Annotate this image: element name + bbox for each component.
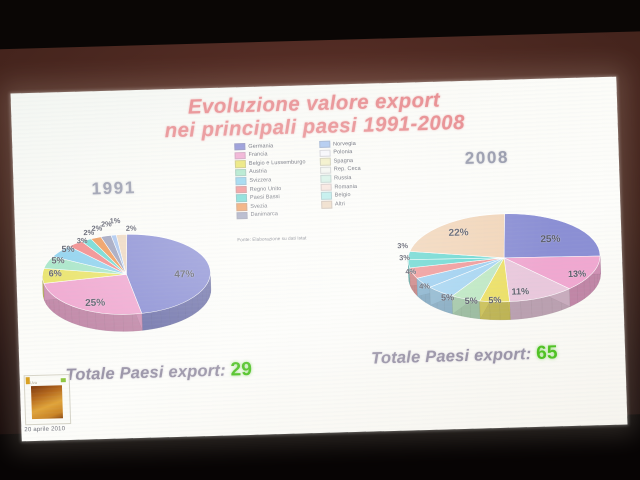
pie-slice-label: 3% bbox=[397, 241, 408, 250]
legend-swatch-icon bbox=[235, 177, 246, 185]
thumbnail-caption: Uva bbox=[30, 380, 37, 385]
slide-thumbnail-image: Uva bbox=[24, 374, 72, 425]
legend-item-label: Romania bbox=[334, 183, 357, 190]
legend-item: Romania bbox=[320, 183, 361, 192]
pie-chart-2008: 25%13%11%5%5%5%4%4%3%3%22% bbox=[386, 185, 627, 338]
legend-swatch-icon bbox=[234, 143, 245, 151]
legend-swatch-icon bbox=[236, 212, 247, 220]
pie-slice-side bbox=[510, 301, 522, 320]
pie-slice-side bbox=[531, 298, 542, 318]
legend-column-right: NorvegiaPoloniaSpagnaRep. CecaRussiaRoma… bbox=[319, 140, 362, 217]
pie-chart-1991: 47%25%6%5%5%3%2%2%2%1%2% bbox=[16, 205, 236, 341]
legend-item-label: Danimarca bbox=[250, 211, 278, 218]
legend-item-label: Altri bbox=[335, 201, 345, 207]
legend-swatch-icon bbox=[321, 201, 332, 209]
presentation-slide: Evoluzione valore export nei principali … bbox=[10, 77, 627, 442]
legend-swatch-icon bbox=[319, 149, 330, 157]
pie-slice-label: 5% bbox=[488, 295, 501, 305]
legend-item-label: Polonia bbox=[333, 149, 352, 156]
legend-item-label: Belgio bbox=[335, 192, 351, 198]
legend-swatch-icon bbox=[236, 194, 247, 202]
legend-swatch-icon bbox=[320, 183, 331, 191]
legend-swatch-icon bbox=[319, 158, 330, 166]
legend-item: Rep. Ceca bbox=[320, 166, 361, 175]
legend-item-label: Svezia bbox=[250, 203, 267, 209]
pie-slice-label: 22% bbox=[448, 227, 468, 239]
pie-slice-label: 11% bbox=[511, 286, 529, 296]
legend-swatch-icon bbox=[321, 192, 332, 200]
legend-item-label: Paesi Bassi bbox=[250, 194, 280, 201]
legend-swatch-icon bbox=[235, 160, 246, 168]
legend-item: Belgio bbox=[321, 191, 362, 200]
pie-slice-label: 25% bbox=[85, 298, 105, 310]
pie-slice-side bbox=[542, 295, 553, 315]
pie-slice-label: 25% bbox=[540, 234, 560, 246]
pie-slice-label: 3% bbox=[77, 236, 88, 245]
pie-slice-label: 4% bbox=[419, 282, 430, 291]
total-countries-2008: Totale Paesi export: 65 bbox=[371, 342, 558, 369]
legend-item: Altri bbox=[321, 200, 362, 209]
legend-item: Polonia bbox=[319, 148, 360, 157]
pie-slice-side bbox=[87, 310, 96, 329]
legend-item-label: Rep. Ceca bbox=[334, 166, 361, 173]
pie-slice-label: 1% bbox=[110, 216, 121, 225]
legend-swatch-icon bbox=[235, 169, 246, 177]
pie-slice-label: 5% bbox=[61, 244, 74, 254]
pie-slice-label: 13% bbox=[568, 268, 586, 278]
pie-slice-side bbox=[142, 312, 152, 330]
total-value-2008: 65 bbox=[536, 342, 558, 364]
legend-swatch-icon bbox=[320, 175, 331, 183]
pie-svg bbox=[386, 185, 627, 338]
source-note: Fonte: Elaborazione su dati Istat bbox=[237, 235, 306, 242]
pie-slice-side bbox=[79, 308, 88, 328]
legend-item-label: Belgio e Lussemburgo bbox=[249, 159, 306, 167]
pie-slice-side bbox=[161, 308, 170, 327]
thumbnail-green-mark bbox=[61, 378, 66, 382]
legend-swatch-icon bbox=[234, 152, 245, 160]
legend-item-label: Regno Unito bbox=[250, 186, 282, 193]
legend-item-label: Russia bbox=[334, 175, 352, 181]
legend-item-label: Norvegia bbox=[333, 141, 356, 148]
year-label-2008: 2008 bbox=[465, 148, 510, 169]
legend-swatch-icon bbox=[320, 166, 331, 174]
room-ceiling bbox=[0, 0, 640, 50]
pie-slice-side bbox=[123, 314, 133, 331]
total-countries-1991: Totale Paesi export: 29 bbox=[65, 359, 252, 386]
legend-swatch-icon bbox=[236, 203, 247, 211]
slide-date: 20 aprile 2010 bbox=[24, 426, 65, 433]
pie-slice-label: 5% bbox=[464, 296, 477, 306]
projected-slide-photo: Evoluzione valore export nei principali … bbox=[0, 0, 640, 480]
total-value-1991: 29 bbox=[230, 359, 252, 381]
pie-slice-label: 47% bbox=[174, 269, 194, 281]
year-label-1991: 1991 bbox=[91, 178, 136, 199]
legend-swatch-icon bbox=[319, 141, 330, 149]
pie-slice-side bbox=[151, 310, 161, 329]
pie-slice-side bbox=[104, 313, 114, 331]
total-label-1991: Totale Paesi export: bbox=[65, 362, 226, 384]
legend-item: Danimarca bbox=[236, 210, 307, 219]
pie-slice-label: 2% bbox=[126, 224, 137, 233]
pie-slice-label: 5% bbox=[51, 255, 64, 265]
legend-item-label: Svizzera bbox=[249, 177, 271, 184]
pie-slice-label: 3% bbox=[399, 253, 410, 262]
slide-title: Evoluzione valore export nei principali … bbox=[11, 85, 618, 148]
legend-column-left: GermaniaFranciaBelgio e LussemburgoAustr… bbox=[234, 141, 307, 219]
pie-slice-side bbox=[169, 305, 178, 325]
legend-item-label: Austria bbox=[249, 169, 267, 175]
pie-slice-label: 4% bbox=[405, 267, 416, 276]
pie-slice-side bbox=[71, 306, 79, 326]
pie-slice-side bbox=[95, 312, 104, 331]
pie-slice-side bbox=[114, 314, 124, 332]
legend-item: Russia bbox=[320, 174, 361, 183]
legend-item-label: Francia bbox=[249, 152, 268, 159]
legend-item-label: Germania bbox=[248, 143, 273, 150]
pie-slice-side bbox=[521, 299, 532, 318]
legend-item: Norvegia bbox=[319, 140, 360, 149]
pie-slice-label: 6% bbox=[48, 269, 61, 279]
pie-slice-label: 5% bbox=[441, 292, 454, 302]
legend-item-label: Spagna bbox=[333, 158, 353, 165]
legend-item: Spagna bbox=[319, 157, 360, 166]
thumbnail-photo bbox=[31, 385, 63, 419]
legend-swatch-icon bbox=[236, 186, 247, 194]
total-label-2008: Totale Paesi export: bbox=[371, 345, 532, 367]
